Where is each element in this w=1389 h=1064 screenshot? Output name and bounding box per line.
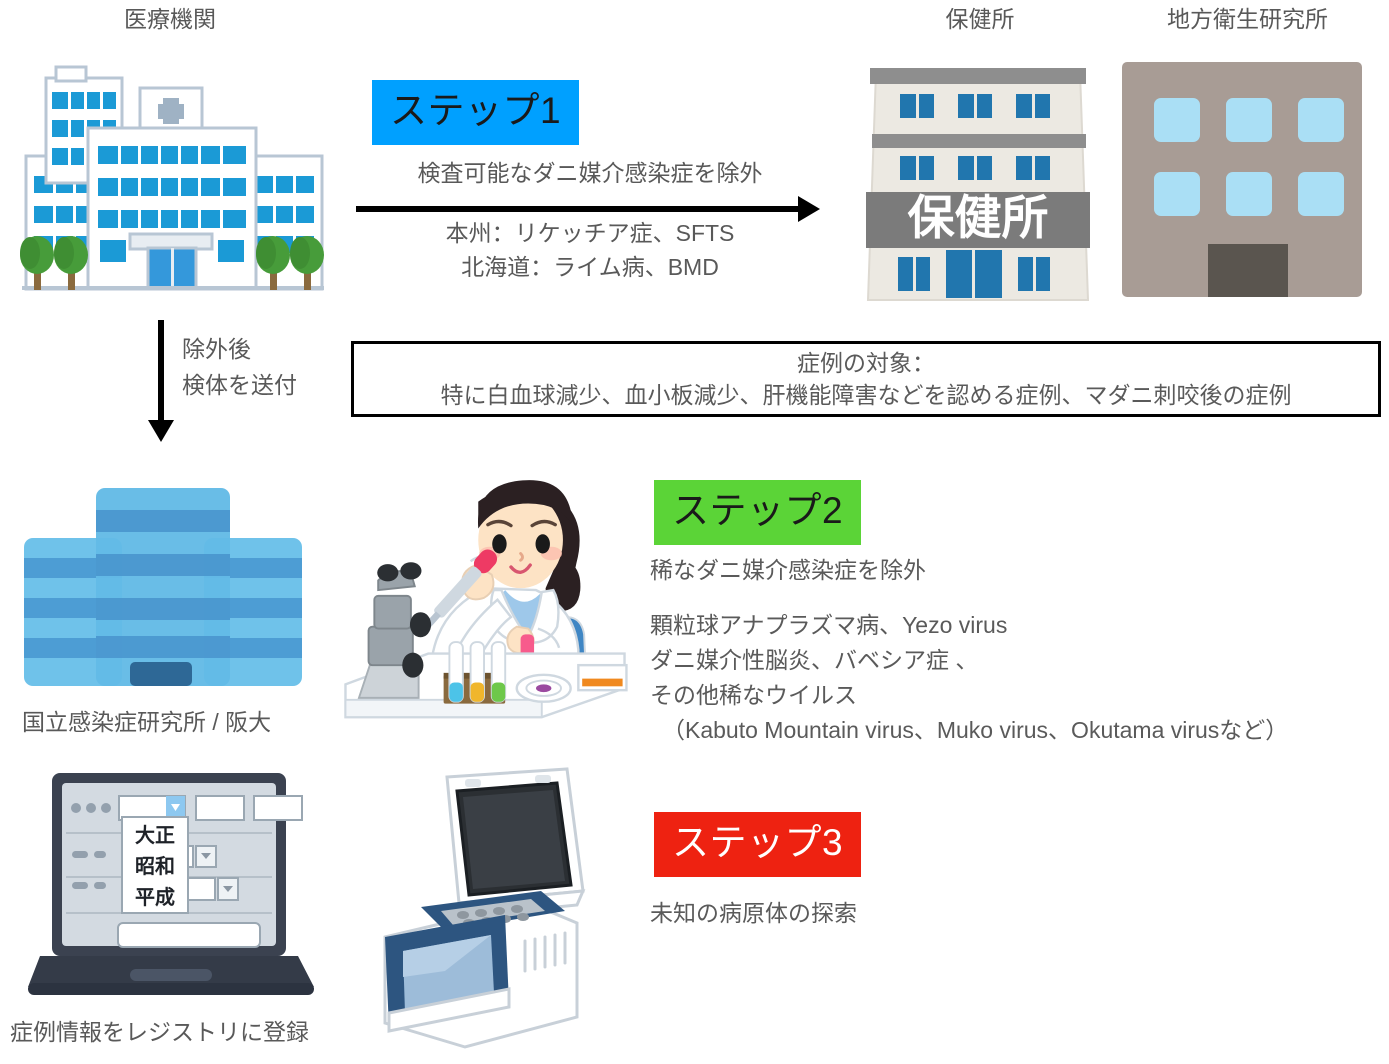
criteria-line-2: 特に白血球減少、血小板減少、肝機能障害などを認める症例、マダニ刺咬後の症例 [441, 379, 1292, 411]
label-registry: 症例情報をレジストリに登録 [10, 1017, 309, 1048]
step2-line-4: （Kabuto Mountain virus、Muko virus、Okutam… [662, 713, 1288, 747]
step3-badge: ステップ3 [654, 812, 861, 877]
diagram-canvas: 医療機関 保健所 地方衛生研究所 [0, 0, 1389, 1064]
step2-line-3: その他稀なウイルス [650, 678, 857, 712]
scientist-illustration [335, 465, 635, 720]
laptop-illustration: 大正 昭和 平成 [26, 765, 326, 1005]
hospital-illustration [8, 48, 338, 303]
step1-caption-above: 検査可能なダニ媒介感染症を除外 [340, 158, 840, 189]
label-health-center: 保健所 [870, 4, 1090, 35]
label-niid-osaka: 国立感染症研究所 / 阪大 [22, 707, 271, 738]
down-arrow-label-line1: 除外後 [182, 334, 251, 365]
laptop-option-heisei: 平成 [135, 885, 175, 909]
step1-badge: ステップ1 [372, 80, 579, 145]
step2-badge: ステップ2 [654, 480, 861, 545]
step2-line-2: ダニ媒介性脳炎、バベシア症 、 [650, 643, 978, 677]
step2-line-1: 顆粒球アナプラズマ病、Yezo virus [650, 608, 1007, 642]
pcr-machine-illustration [345, 755, 635, 1055]
down-arrow-label-line2: 検体を送付 [182, 370, 297, 401]
health-center-illustration: 保健所 [858, 52, 1098, 302]
step1-caption-line2: 北海道：ライム病、BMD [340, 252, 840, 283]
criteria-line-1: 症例の対象： [797, 347, 935, 379]
criteria-box: 症例の対象： 特に白血球減少、血小板減少、肝機能障害などを認める症例、マダニ刺咬… [351, 341, 1381, 417]
down-arrow [148, 320, 174, 442]
laptop-option-taisho: 大正 [135, 823, 175, 847]
step1-caption-line1: 本州：リケッチア症、SFTS [340, 218, 840, 249]
label-medical-institution: 医療機関 [0, 4, 340, 35]
step2-heading: 稀なダニ媒介感染症を除外 [650, 553, 926, 587]
laptop-option-showa: 昭和 [135, 854, 175, 878]
step3-heading: 未知の病原体の探索 [650, 896, 857, 930]
label-local-institute: 地方衛生研究所 [1115, 4, 1380, 35]
health-center-sign-text: 保健所 [908, 191, 1049, 246]
niid-building-illustration [18, 480, 308, 695]
local-institute-illustration [1116, 52, 1368, 302]
